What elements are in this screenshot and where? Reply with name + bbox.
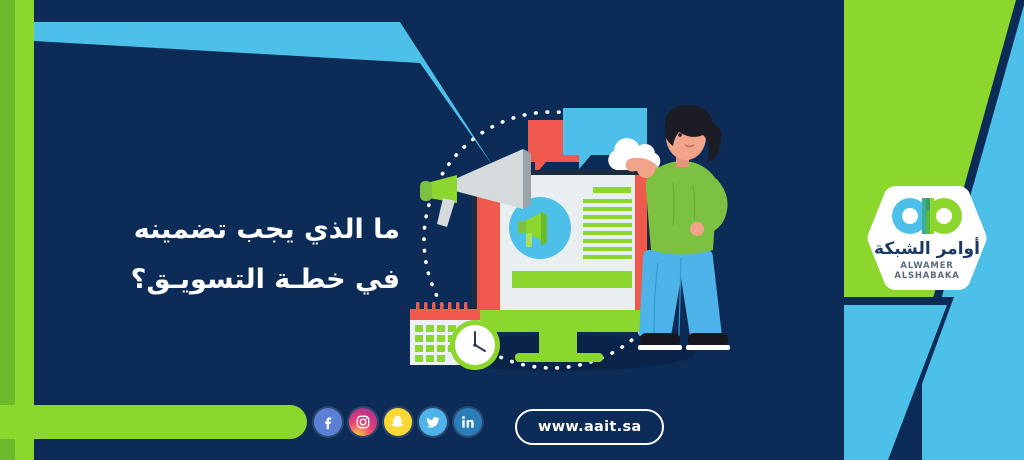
linkedin-icon[interactable] [454,408,482,436]
headline: ما الذي يجب تضمينه في خطـة التسويـق؟ [70,205,400,305]
bottom-green-bar [0,405,307,439]
clock [450,320,500,370]
hero-illustration [400,95,760,385]
top [646,161,717,255]
eye [678,133,682,137]
social-links-row [314,408,482,436]
logo-arabic-name: أوامر الشبكة [866,239,988,259]
eye [690,133,694,137]
logo-mark-icon [892,196,964,238]
marketing-banner: ما الذي يجب تضمينه في خطـة التسويـق؟ [0,0,1024,460]
instagram-icon[interactable] [349,408,377,436]
headline-line-2: في خطـة التسويـق؟ [70,255,400,305]
website-url-label: www.aait.sa [538,419,641,435]
snapchat-icon[interactable] [384,408,412,436]
website-url-pill[interactable]: www.aait.sa [515,409,664,445]
headline-line-1: ما الذي يجب تضمينه [70,205,400,255]
facebook-icon[interactable] [314,408,342,436]
twitter-icon[interactable] [419,408,447,436]
logo-badge[interactable]: أوامر الشبكة ALWAMER ALSHABAKA [866,182,988,294]
logo-latin-name: ALWAMER ALSHABAKA [866,261,988,281]
